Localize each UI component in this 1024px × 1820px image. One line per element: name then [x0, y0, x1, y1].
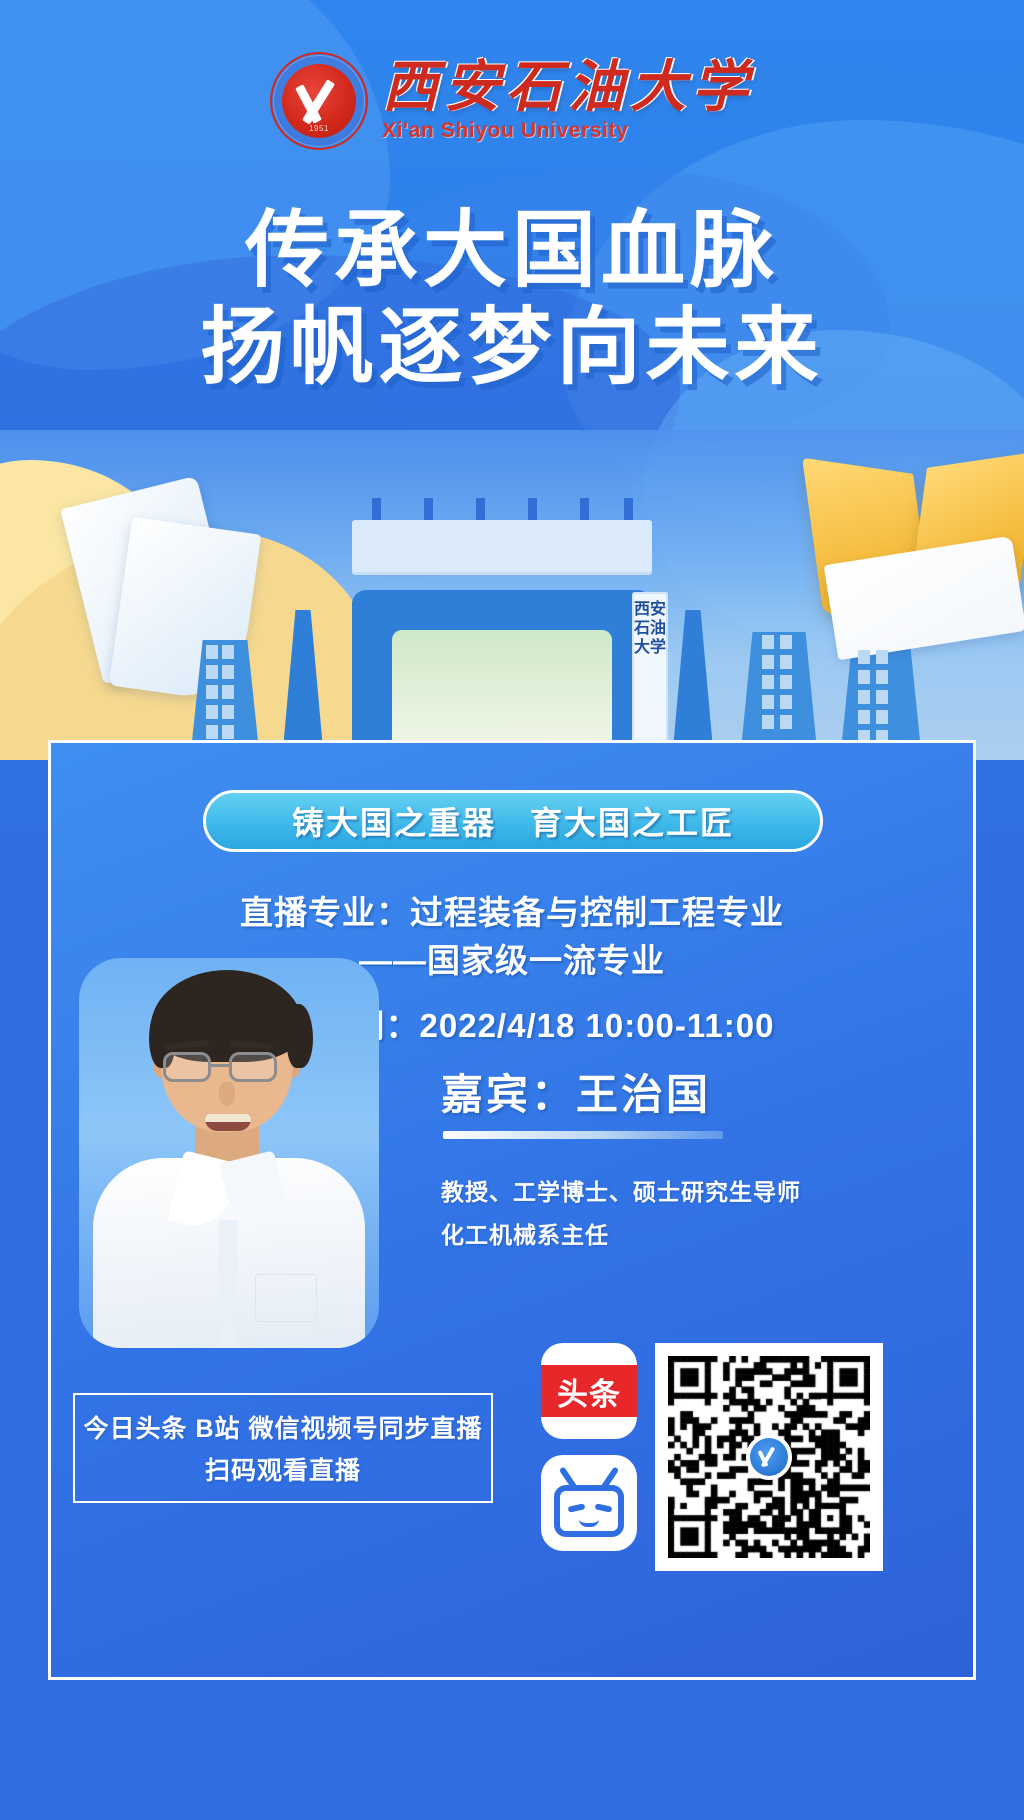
window-shape: [858, 690, 870, 704]
qr-matrix: [668, 1356, 870, 1558]
window-shape: [762, 675, 774, 689]
campus-illustration: 西安石油大学: [0, 430, 1024, 760]
window-shape: [780, 655, 792, 669]
window-shape: [206, 685, 218, 699]
slogan-text: 铸大国之重器 育大国之工匠: [292, 798, 734, 844]
guest-bio: 教授、工学博士、硕士研究生导师 化工机械系主任: [441, 1171, 801, 1256]
gate-sign-text: 西安石油大学: [632, 592, 668, 657]
poster-headline: 传承大国血脉 扬帆逐梦向未来: [0, 205, 1024, 394]
window-shape: [222, 685, 234, 699]
logo-title-cn: 西安石油大学: [382, 58, 754, 116]
window-shape: [876, 710, 888, 724]
guest-bio-line-2: 化工机械系主任: [441, 1214, 801, 1257]
gate-lintel: [352, 520, 652, 572]
university-seal-icon: 1951: [270, 52, 368, 150]
university-logo: 1951 西安石油大学 Xi'an Shiyou University: [0, 48, 1024, 153]
open-book-icon: [804, 442, 1024, 642]
window-shape: [222, 705, 234, 719]
major-line: 直播专业：过程装备与控制工程专业: [51, 888, 973, 938]
app-icons-group: 头条: [541, 1343, 637, 1551]
window-shape: [780, 635, 792, 649]
logo-title-en: Xi'an Shiyou University: [382, 119, 754, 143]
headline-line-2: 扬帆逐梦向未来: [0, 300, 1024, 394]
window-shape: [858, 650, 870, 664]
guest-bio-line-1: 教授、工学博士、硕士研究生导师: [441, 1171, 801, 1214]
window-shape: [876, 690, 888, 704]
guest-name: 嘉宾：王治国: [441, 1061, 711, 1122]
window-shape: [762, 655, 774, 669]
info-card: 铸大国之重器 育大国之工匠 直播专业：过程装备与控制工程专业 ——国家级一流专业…: [48, 740, 976, 1680]
slogan-pill: 铸大国之重器 育大国之工匠: [203, 790, 823, 852]
qr-code-icon[interactable]: [655, 1343, 883, 1571]
window-shape: [206, 725, 218, 739]
window-shape: [762, 635, 774, 649]
seal-year: 1951: [270, 124, 368, 133]
scan-line: 扫码观看直播: [205, 1451, 361, 1487]
poster-root: 1951 西安石油大学 Xi'an Shiyou University 传承大国…: [0, 0, 1024, 1820]
toutiao-label: 头条: [541, 1365, 637, 1417]
channels-line: 今日头条 B站 微信视频号同步直播: [84, 1409, 483, 1445]
window-shape: [876, 670, 888, 684]
window-shape: [206, 665, 218, 679]
window-shape: [206, 705, 218, 719]
window-shape: [762, 715, 774, 729]
channels-note-box: 今日头条 B站 微信视频号同步直播 扫码观看直播: [73, 1393, 493, 1503]
gate-signpost: 西安石油大学: [632, 592, 668, 760]
guest-portrait: [79, 958, 379, 1348]
bilibili-app-icon[interactable]: [541, 1455, 637, 1551]
window-shape: [780, 675, 792, 689]
window-shape: [762, 695, 774, 709]
guest-divider: [443, 1131, 723, 1139]
window-shape: [222, 665, 234, 679]
window-shape: [780, 715, 792, 729]
university-badge-icon: [746, 1434, 792, 1480]
toutiao-app-icon[interactable]: 头条: [541, 1343, 637, 1439]
window-shape: [206, 645, 218, 659]
window-shape: [876, 650, 888, 664]
window-shape: [858, 670, 870, 684]
window-shape: [858, 710, 870, 724]
window-shape: [222, 725, 234, 739]
headline-line-1: 传承大国血脉: [0, 205, 1024, 296]
window-shape: [780, 695, 792, 709]
window-shape: [222, 645, 234, 659]
logo-text-block: 西安石油大学 Xi'an Shiyou University: [382, 58, 754, 142]
